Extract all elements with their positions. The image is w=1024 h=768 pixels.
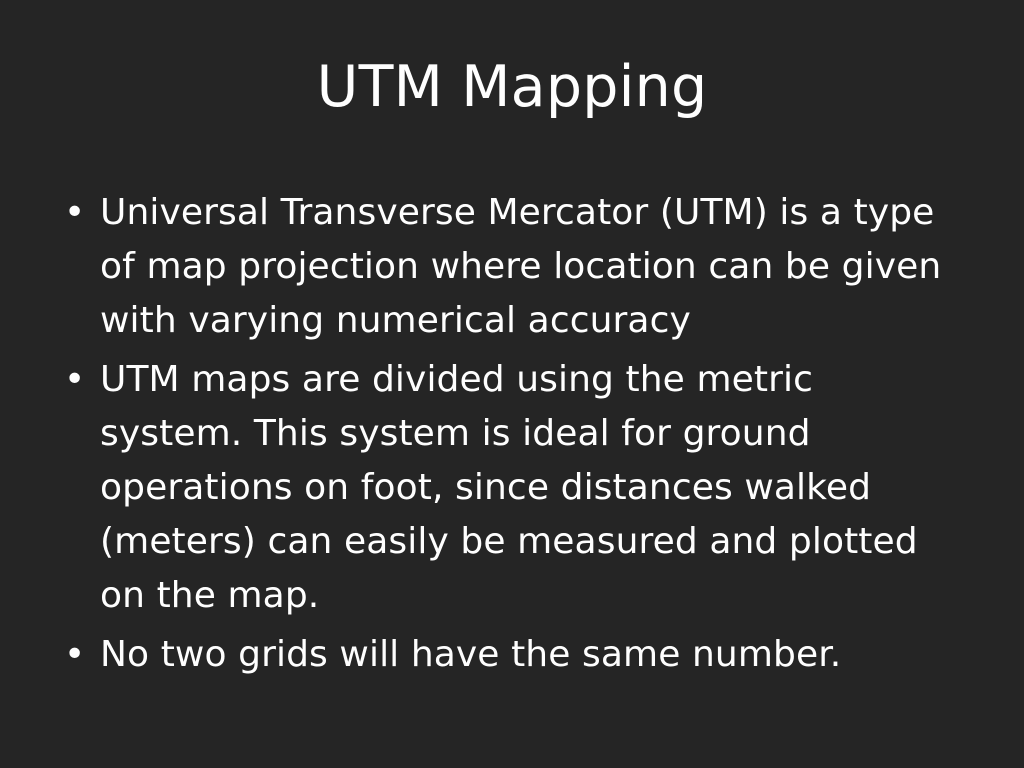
bullet-point-icon: •	[56, 353, 100, 407]
bullet-text: UTM maps are divided using the metric sy…	[100, 353, 966, 623]
presentation-slide: UTM Mapping • Universal Transverse Merca…	[0, 0, 1024, 768]
list-item: • No two grids will have the same number…	[56, 628, 976, 682]
bullet-list: • Universal Transverse Mercator (UTM) is…	[56, 186, 976, 682]
bullet-point-icon: •	[56, 628, 100, 682]
list-item: • UTM maps are divided using the metric …	[56, 353, 976, 623]
bullet-text: Universal Transverse Mercator (UTM) is a…	[100, 186, 966, 348]
page-title: UTM Mapping	[0, 58, 1024, 118]
bullet-text: No two grids will have the same number.	[100, 628, 966, 682]
bullet-point-icon: •	[56, 186, 100, 240]
list-item: • Universal Transverse Mercator (UTM) is…	[56, 186, 976, 348]
